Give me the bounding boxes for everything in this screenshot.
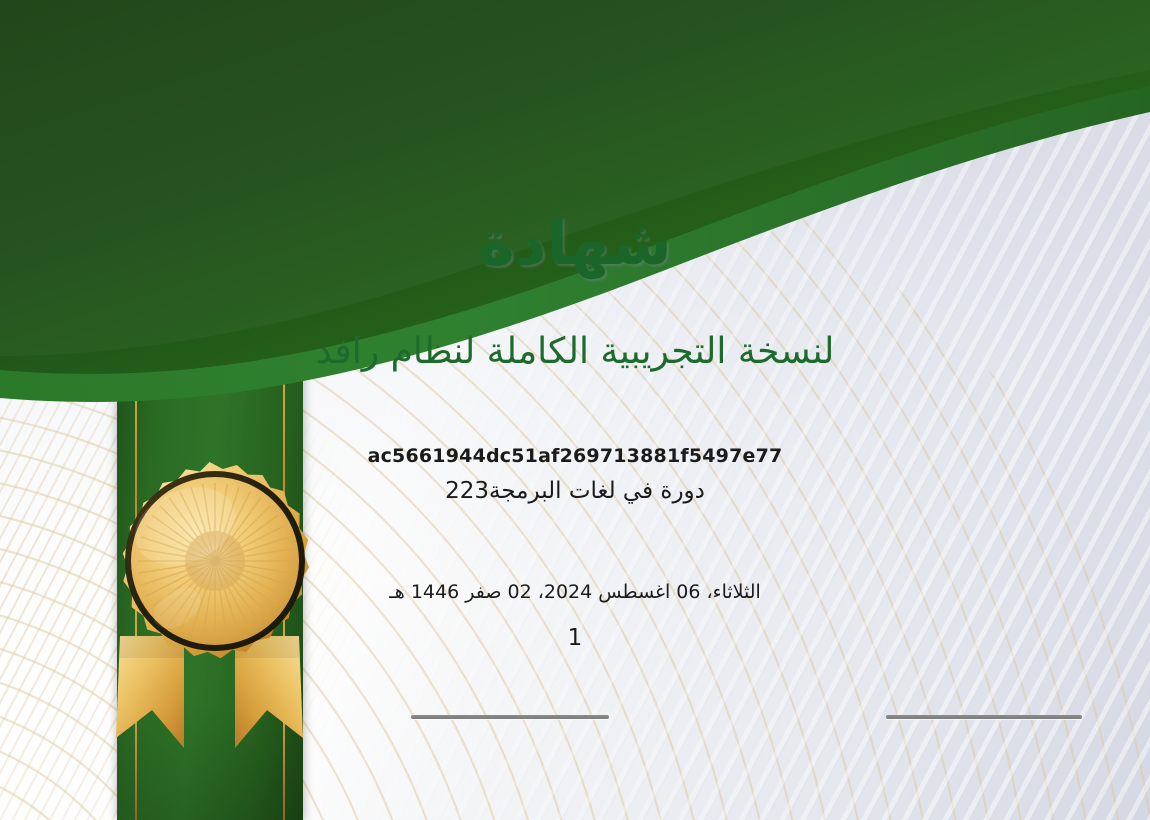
verification-hash: ac5661944dc51af269713881f5497e77 xyxy=(0,445,1150,467)
count-value: 1 xyxy=(0,625,1150,651)
signature-line-right xyxy=(886,715,1082,719)
issue-date: الثلاثاء، 06 اغسطس 2024، 02 صفر 1446 هـ xyxy=(0,581,1150,603)
certificate-subtitle: لنسخة التجريبية الكاملة لنظام رافد xyxy=(0,330,1150,373)
signature-line-left xyxy=(411,715,609,719)
certificate-content: شهادة لنسخة التجريبية الكاملة لنظام رافد… xyxy=(0,0,1150,820)
page-title: شهادة xyxy=(0,212,1150,274)
course-name: دورة في لغات البرمجة223 xyxy=(0,478,1150,504)
certificate-page: شهادة لنسخة التجريبية الكاملة لنظام رافد… xyxy=(0,0,1150,820)
